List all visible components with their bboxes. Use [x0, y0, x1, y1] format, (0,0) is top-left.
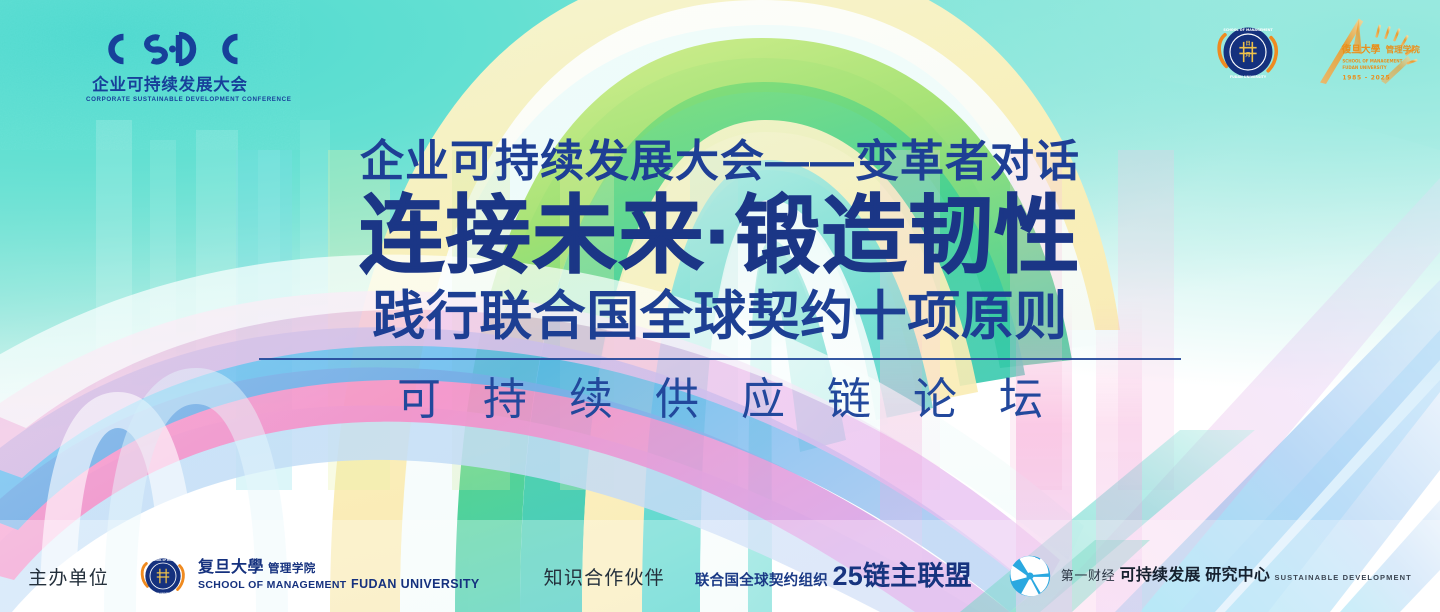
- svg-text:1985 - 2025: 1985 - 2025: [1342, 75, 1390, 82]
- svg-text:日: 日: [1245, 40, 1250, 47]
- footer-partners: 主办单位 SCHOOL OF MGMT FUDAN UNIVERSITY: [0, 550, 1440, 602]
- csdc-name-en: CORPORATE SUSTAINABLE DEVELOPMENT CONFER…: [86, 97, 254, 104]
- fudan-university-seal-icon: 日 月 SCHOOL OF MANAGEMENT FUDAN UNIVERSIT…: [1212, 16, 1284, 88]
- svg-text:管理学院: 管理学院: [1386, 44, 1420, 56]
- ungc-alliance-name: 25链主联盟: [833, 561, 972, 591]
- forum-subtitle: 可持续供应链论坛: [0, 376, 1440, 424]
- fudan-en-line-1: SCHOOL OF MANAGEMENT: [198, 579, 347, 591]
- knowledge-partner-group: 知识合作伙伴 联合国全球契约组织 25链主联盟: [544, 563, 972, 590]
- yicai-research-center-logo: 第一财经 可持续发展 研究中心 SUSTAINABLE DEVELOPMENT: [1008, 554, 1412, 598]
- title-line-3: 践行联合国全球契约十项原则: [0, 289, 1440, 345]
- title-main-headline: 连接未来·锻造韧性: [0, 194, 1440, 281]
- fudan-en-line-2: FUDAN UNIVERSITY: [351, 577, 480, 591]
- csdc-name-cn: 企业可持续发展大会: [86, 76, 254, 94]
- csdc-wordmark-icon: [95, 26, 245, 72]
- title-divider-rule: [259, 358, 1181, 360]
- ungc-25-alliance-logo: 联合国全球契约组织 25链主联盟: [695, 563, 972, 590]
- svg-text:SCHOOL OF MANAGEMENT: SCHOOL OF MANAGEMENT: [1342, 58, 1402, 63]
- svg-text:SCHOOL OF MGMT: SCHOOL OF MGMT: [151, 559, 175, 562]
- yicai-center-name: 可持续发展 研究中心: [1120, 567, 1270, 584]
- title-line-1: 企业可持续发展大会——变革者对话: [0, 140, 1440, 184]
- csdc-logo: 企业可持续发展大会 CORPORATE SUSTAINABLE DEVELOPM…: [86, 26, 254, 104]
- svg-text:FUDAN UNIVERSITY: FUDAN UNIVERSITY: [1230, 75, 1267, 79]
- fudan-wordmark: 复旦大學 管理学院 SCHOOL OF MANAGEMENT FUDAN UNI…: [198, 560, 480, 592]
- svg-text:FUDAN UNIVERSITY: FUDAN UNIVERSITY: [151, 593, 176, 596]
- svg-text:月: 月: [1244, 51, 1250, 58]
- partner-logos-top: 日 月 SCHOOL OF MANAGEMENT FUDAN UNIVERSIT…: [1212, 14, 1420, 90]
- fudan-cn-dept: 管理学院: [268, 564, 316, 576]
- yicai-en-tagline: SUSTAINABLE DEVELOPMENT: [1275, 573, 1412, 582]
- knowledge-partner-label: 知识合作伙伴: [544, 563, 665, 590]
- svg-text:SCHOOL OF MANAGEMENT: SCHOOL OF MANAGEMENT: [1223, 28, 1273, 32]
- organizer-label: 主办单位: [28, 563, 109, 590]
- yicai-brand-name: 第一财经: [1061, 568, 1115, 583]
- title-block: 企业可持续发展大会——变革者对话 连接未来·锻造韧性 践行联合国全球契约十项原则…: [0, 140, 1440, 425]
- organizer-group: 主办单位 SCHOOL OF MGMT FUDAN UNIVERSITY: [28, 550, 479, 602]
- fudan-cn-school: 复旦大學: [198, 560, 264, 576]
- fudan-seal-icon: SCHOOL OF MGMT FUDAN UNIVERSITY: [137, 550, 189, 602]
- fudan-som-lockup: SCHOOL OF MGMT FUDAN UNIVERSITY 复旦大學 管理学…: [137, 550, 480, 602]
- svg-text:復旦大學: 復旦大學: [1341, 43, 1381, 56]
- yicai-wordmark: 第一财经 可持续发展 研究中心 SUSTAINABLE DEVELOPMENT: [1061, 568, 1412, 584]
- aperture-shutter-icon: [1008, 554, 1052, 598]
- ungc-org-name: 联合国全球契约组织: [695, 573, 828, 589]
- fudan-som-anniversary-icon: 復旦大學 管理学院 SCHOOL OF MANAGEMENT FUDAN UNI…: [1308, 14, 1420, 90]
- svg-text:FUDAN UNIVERSITY: FUDAN UNIVERSITY: [1342, 65, 1386, 70]
- conference-banner: 企业可持续发展大会 CORPORATE SUSTAINABLE DEVELOPM…: [0, 0, 1440, 612]
